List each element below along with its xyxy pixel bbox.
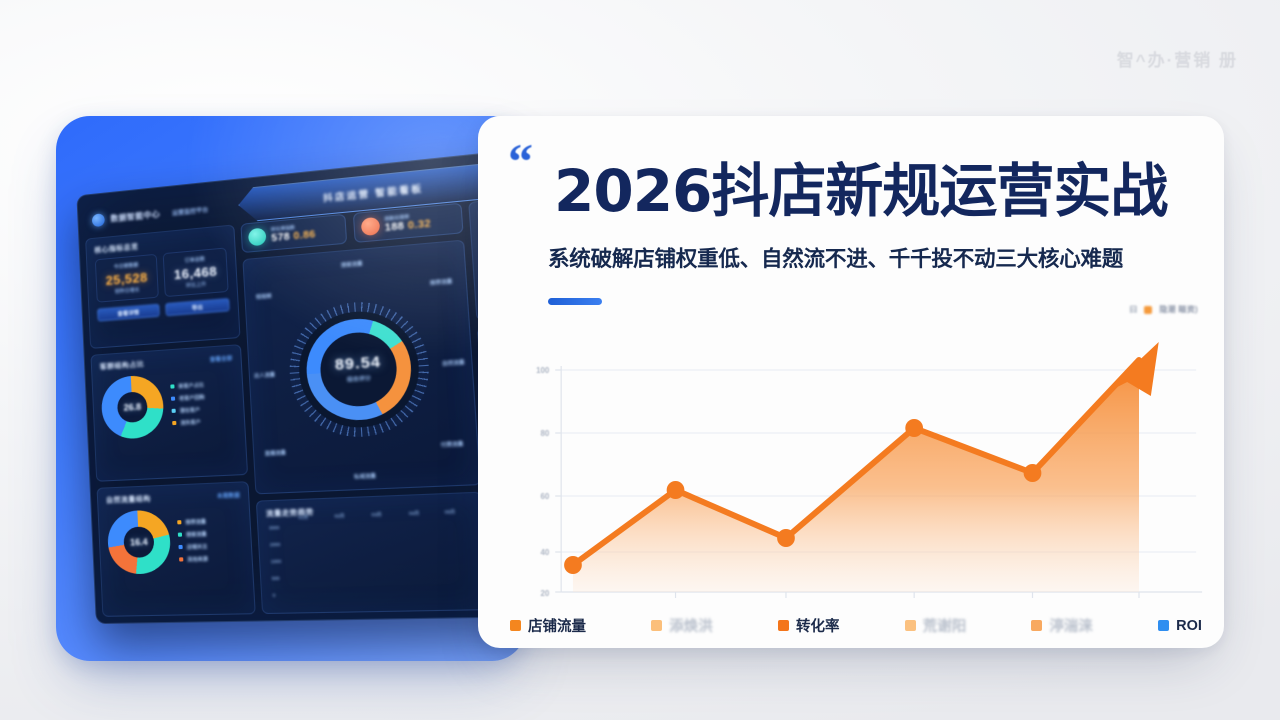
axis-x-label: 01月 (298, 514, 308, 521)
legend-swatch-icon (1031, 620, 1042, 631)
gauge-outer-ticks: 89.54 综合评分 (286, 296, 433, 439)
axis-x-label: 02月 (334, 513, 344, 520)
axis-y-label: 0 (273, 593, 276, 598)
legend-label: 添焕洪 (669, 615, 713, 636)
customer-donut-action[interactable]: 查看全部 (209, 354, 232, 364)
legend-item-4[interactable]: 渟湍涞 (1031, 615, 1093, 636)
legend-swatch-icon (905, 620, 916, 631)
chart-point (777, 529, 795, 547)
legend-label: 渟湍涞 (1049, 615, 1093, 636)
page-title: 2026抖店新规运营实战 (554, 144, 1167, 228)
kpi-export-button[interactable]: 导出 (165, 298, 230, 316)
gauge-label: 私域流量 (354, 472, 376, 480)
kpi-panel: 核心指标总览 今日销售额 25,528 较昨日增长 订单总数 16,468 (85, 224, 240, 348)
legend-swatch-icon (778, 620, 789, 631)
pill-value: 188 (384, 221, 404, 234)
legend-swatch-icon (510, 620, 521, 631)
gauge-label: 搜索流量 (341, 260, 363, 269)
kpi-detail-button[interactable]: 查看详情 (97, 304, 160, 322)
legend-label: 老客户回购 (179, 393, 205, 402)
gauge-label: 推荐流量 (430, 278, 453, 287)
dashboard-brand: 数据智能中心 (110, 208, 160, 224)
natural-traffic-center-value: 16.4 (107, 509, 172, 574)
page-subtitle: 系统破解店铺权重低、自然流不进、千千投不动三大核心难题 (548, 242, 1123, 273)
dashboard-mockup-panel: 数据智能中心 运营监控平台 抖店运营 智能看板 管理员 在线 管理员 在线 核心… (56, 116, 526, 661)
dashboard-logo-icon (92, 213, 105, 227)
legend-item-2[interactable]: 转化率 (778, 615, 840, 636)
refund-icon (360, 217, 380, 236)
legend-label: 店铺流量 (528, 615, 586, 636)
natural-traffic-legend: 推荐流量 搜索流量 店铺关注 其他来源 (177, 518, 208, 563)
kpi-panel-title: 核心指标总览 (94, 242, 138, 256)
y-tick-label: 80 (541, 429, 550, 438)
legend-label: 推荐流量 (185, 518, 206, 526)
gauge-value: 89.54 (334, 353, 381, 374)
gauge-label: 自然流量 (442, 358, 465, 367)
chart-bottom-legend: 店铺流量 添焕洪 转化率 荒谢阳 渟湍涞 ROI (510, 615, 1202, 636)
chart-point (667, 481, 685, 499)
page-watermark: 智^办·营销 册 (1117, 46, 1238, 71)
legend-label: 潜在客户 (180, 406, 201, 414)
legend-label: ROI (1176, 618, 1202, 634)
kpi-card: 订单总数 16,468 环比上升 (163, 247, 229, 297)
natural-traffic-action[interactable]: 本周数据 (217, 491, 240, 500)
legend-label: 转化率 (796, 615, 840, 636)
kpi-card: 今日销售额 25,528 较昨日增长 (95, 254, 159, 303)
legend-label: 荒谢阳 (923, 615, 967, 636)
content-card: “ 2026抖店新规运营实战 系统破解店铺权重低、自然流不进、千千投不动三大核心… (478, 116, 1224, 648)
axis-y-label: 500 (272, 576, 280, 581)
legend-swatch-icon (1158, 620, 1169, 631)
growth-chart-svg: 100 80 60 40 20 (500, 330, 1210, 598)
legend-swatch-icon (1144, 306, 1152, 314)
conversion-icon (248, 228, 267, 247)
gauge-label: 短视频 (256, 292, 272, 300)
chart-point (564, 556, 582, 574)
customer-donut-card: 客群结构占比 查看全部 26.8 新客户占比 老客户回购 潜在客户 流 (90, 344, 248, 482)
pill-value: 578 (271, 231, 290, 244)
legend-label: 流失客户 (180, 418, 201, 426)
dashboard-brand-sub: 运营监控平台 (172, 204, 209, 217)
gauge-sub: 综合评分 (347, 374, 371, 384)
tilted-dashboard: 数据智能中心 运营监控平台 抖店运营 智能看板 管理员 在线 管理员 在线 核心… (76, 137, 526, 624)
gauge-center: 89.54 综合评分 (286, 296, 433, 439)
traffic-trend-card: 流量走势趋势 3000 2000 1000 500 0 01月 02月 03月 … (256, 492, 490, 614)
legend-label: 其他来源 (187, 555, 208, 563)
pill-unit: 0.32 (407, 218, 431, 232)
natural-traffic-donut-chart: 16.4 (107, 509, 172, 574)
legend-item-1[interactable]: 添焕洪 (651, 615, 713, 636)
pill-unit: 0.86 (293, 229, 316, 242)
axis-x-label: 04月 (409, 510, 420, 517)
chart-point (1024, 464, 1042, 482)
y-tick-label: 20 (541, 589, 550, 598)
traffic-gauge-card: 搜索流量 推荐流量 自然流量 付费流量 私域流量 直播流量 达人流量 短视频 8… (242, 240, 481, 495)
legend-item-0[interactable]: 店铺流量 (510, 615, 586, 636)
customer-donut-legend: 新客户占比 老客户回购 潜在客户 流失客户 (170, 381, 206, 427)
gauge-label: 直播流量 (265, 449, 287, 457)
axis-y-label: 3000 (269, 525, 280, 531)
natural-traffic-donut-card: 自然流量结构 本周数据 16.4 推荐流量 搜索流量 店铺关注 其他来 (97, 481, 256, 617)
chart-top-legend: 曰 隐潮 瞄资) (1129, 304, 1198, 315)
axis-x-label: 05月 (445, 509, 456, 516)
gauge-label: 付费流量 (440, 440, 463, 449)
legend-label: 新客户占比 (178, 381, 204, 390)
traffic-trend-chart: 3000 2000 1000 500 0 01月 02月 03月 04月 05月 (267, 516, 473, 523)
quote-mark-icon: “ (508, 136, 533, 186)
legend-item-3[interactable]: 荒谢阳 (905, 615, 967, 636)
gauge-label: 达人流量 (254, 371, 275, 380)
title-divider (548, 298, 602, 305)
calendar-icon: 曰 (1129, 304, 1137, 315)
axis-y-label: 1000 (271, 559, 282, 565)
legend-swatch-icon (651, 620, 662, 631)
legend-label: 店铺关注 (187, 543, 208, 551)
chart-point (905, 419, 923, 437)
chart-top-legend-label: 隐潮 瞄资) (1159, 304, 1198, 315)
axis-x-label: 03月 (371, 512, 382, 519)
axis-y-label: 2000 (270, 542, 281, 548)
natural-traffic-title: 自然流量结构 (106, 494, 151, 506)
customer-donut-center-value: 26.8 (100, 374, 165, 440)
customer-donut-chart: 26.8 (100, 374, 165, 440)
dashboard-banner-title: 抖店运营 智能看板 (323, 181, 424, 204)
growth-area-chart: 100 80 60 40 20 (500, 330, 1210, 598)
y-tick-label: 60 (541, 492, 550, 501)
y-tick-label: 40 (541, 548, 550, 557)
legend-item-5[interactable]: ROI (1158, 618, 1202, 634)
customer-donut-title: 客群结构占比 (100, 359, 145, 372)
legend-label: 搜索流量 (186, 530, 207, 538)
y-tick-label: 100 (536, 366, 550, 375)
